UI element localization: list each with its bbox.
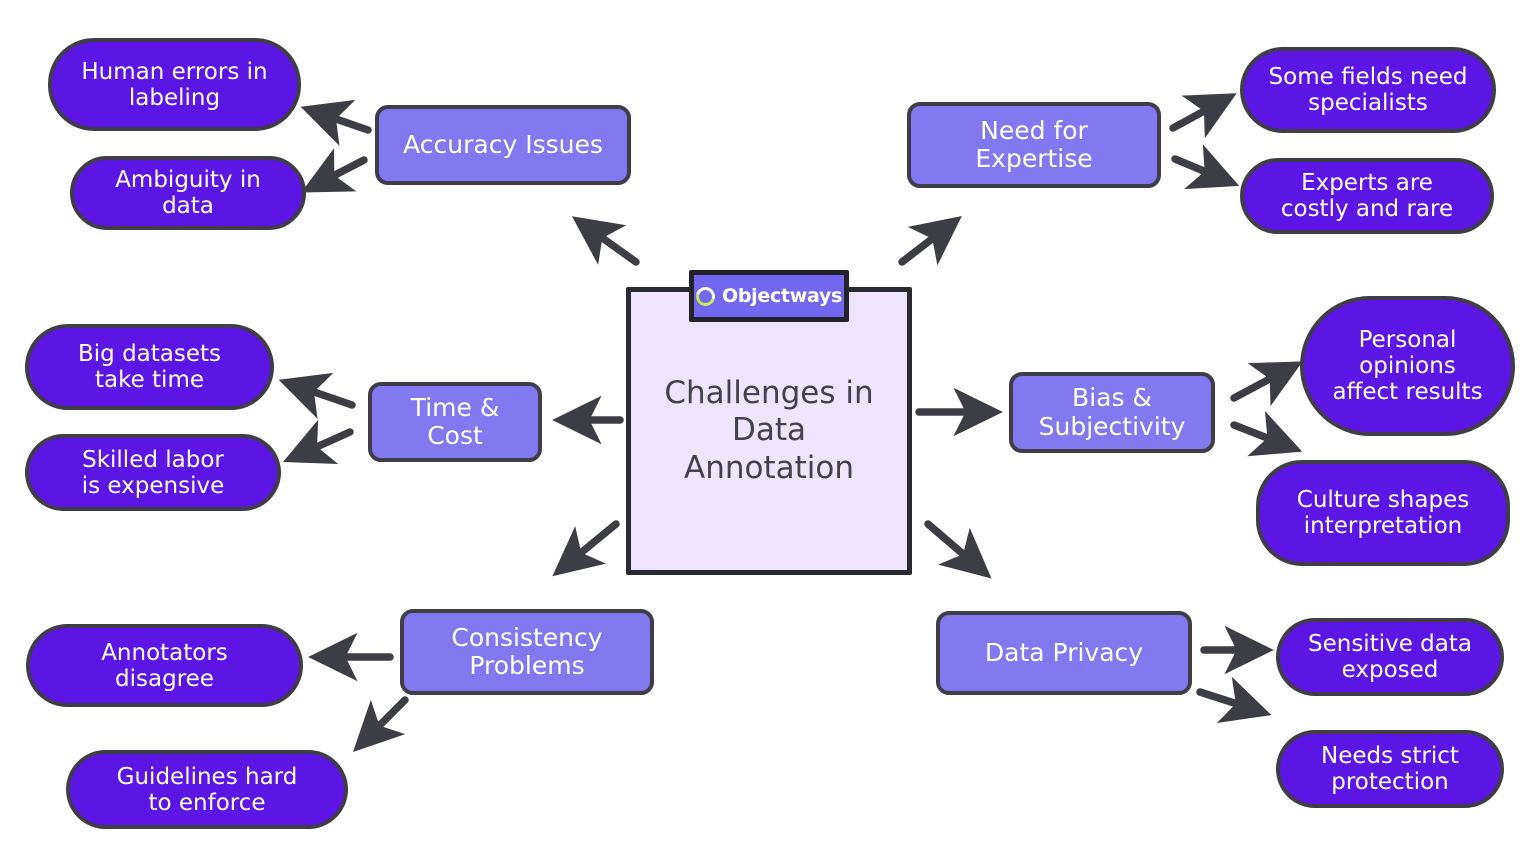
connector-root-to-data-privacy [928,524,984,572]
leaf-label: Big datasets take time [78,341,221,393]
leaf-label: Experts are costly and rare [1281,170,1453,222]
leaf-annotators-disagree[interactable]: Annotators disagree [26,624,303,707]
branch-label: Accuracy Issues [403,131,603,159]
branch-bias-and-subjectivity[interactable]: Bias & Subjectivity [1009,372,1215,453]
leaf-big-datasets-take-time[interactable]: Big datasets take time [25,324,274,410]
connector-root-to-consistency-problems [560,524,616,570]
branch-need-for-expertise[interactable]: Need for Expertise [907,102,1161,188]
connector-time-to-big-datasets [288,383,352,405]
leaf-label: Annotators disagree [101,640,228,692]
leaf-label: Skilled labor is expensive [82,447,225,499]
ring-icon [693,283,719,309]
leaf-culture-shapes-interpretation[interactable]: Culture shapes interpretation [1256,460,1510,566]
leaf-label: Guidelines hard to enforce [117,764,298,816]
leaf-some-fields-need-specialists[interactable]: Some fields need specialists [1240,47,1496,133]
connector-accuracy-to-ambiguity [310,160,364,188]
leaf-label: Human errors in labeling [81,59,267,111]
leaf-label: Personal opinions affect results [1332,327,1482,405]
leaf-sensitive-data-exposed[interactable]: Sensitive data exposed [1276,618,1504,696]
leaf-ambiguity-in-data[interactable]: Ambiguity in data [70,156,306,230]
branch-label: Consistency Problems [451,624,602,681]
connector-root-to-accuracy-issues [580,222,636,262]
leaf-experts-are-costly-and-rare[interactable]: Experts are costly and rare [1240,158,1494,234]
leaf-human-errors-in-labeling[interactable]: Human errors in labeling [48,38,301,131]
leaf-label: Needs strict protection [1321,743,1459,795]
connector-privacy-to-needs-strict [1200,692,1262,712]
leaf-personal-opinions-affect-results[interactable]: Personal opinions affect results [1300,296,1515,436]
connector-accuracy-to-human-errors [310,110,368,130]
branch-accuracy-issues[interactable]: Accuracy Issues [375,105,631,185]
root-node[interactable]: Challenges in Data Annotation [626,287,912,575]
mindmap-canvas: Challenges in Data Annotation Objectways… [0,0,1536,864]
leaf-label: Some fields need specialists [1269,64,1468,116]
branch-data-privacy[interactable]: Data Privacy [936,611,1192,695]
leaf-guidelines-hard-to-enforce[interactable]: Guidelines hard to enforce [66,750,348,829]
leaf-skilled-labor-is-expensive[interactable]: Skilled labor is expensive [25,434,281,511]
leaf-label: Sensitive data exposed [1308,631,1472,683]
branch-label: Data Privacy [985,639,1143,667]
connector-expertise-to-experts-costly [1175,159,1230,182]
root-label: Challenges in Data Annotation [664,375,873,487]
logo-wordmark: Objectways [722,285,842,307]
connector-bias-to-culture-shapes [1234,425,1293,448]
branch-label: Bias & Subjectivity [1039,384,1186,441]
branch-consistency-problems[interactable]: Consistency Problems [400,609,654,695]
connector-bias-to-personal-opinions [1234,366,1294,398]
branch-label: Need for Expertise [975,117,1092,174]
leaf-label: Culture shapes interpretation [1297,487,1469,539]
leaf-label: Ambiguity in data [115,167,261,219]
connector-expertise-to-specialists [1173,98,1228,128]
connector-root-to-need-for-expertise [902,222,954,262]
branch-time-and-cost[interactable]: Time & Cost [368,382,542,462]
connector-time-to-skilled-labor [292,432,350,458]
branch-label: Time & Cost [411,394,500,451]
leaf-needs-strict-protection[interactable]: Needs strict protection [1276,730,1504,808]
objectways-logo-badge: Objectways [689,270,849,322]
connector-consistency-to-guidelines [360,700,405,745]
